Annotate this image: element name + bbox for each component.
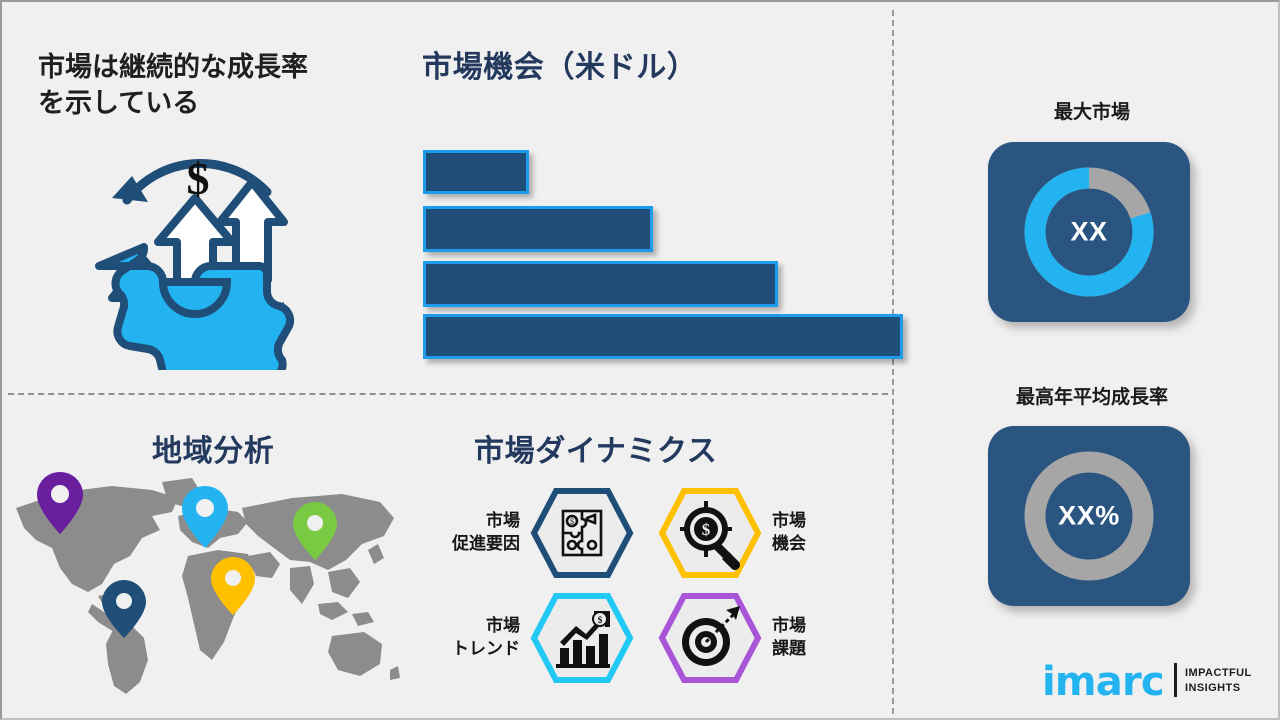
highest-cagr-donut-card: XX% (988, 426, 1190, 606)
target-dart-icon (658, 592, 762, 684)
growth-bar-chart-icon: $ (530, 592, 634, 684)
opportunity-panel-title: 市場機会（米ドル） (422, 50, 872, 86)
dynamics-item-drivers-label: 市場 促進要因 (452, 510, 520, 556)
svg-text:$: $ (598, 615, 603, 625)
bar-row (423, 150, 529, 194)
dynamics-item-trends[interactable]: 市場 トレンド $ (402, 592, 642, 684)
largest-market-value: XX (988, 217, 1190, 248)
imarc-logo-tagline: IMPACTFUL INSIGHTS (1185, 666, 1252, 696)
vertical-divider (892, 10, 894, 714)
market-opportunity-bar-chart (412, 142, 892, 357)
dynamics-item-opportunities-label: 市場 機会 (772, 510, 806, 556)
dynamics-item-trends-label: 市場 トレンド (452, 615, 520, 661)
world-map (2, 464, 402, 696)
dynamics-item-challenges[interactable]: 市場 課題 (650, 592, 890, 684)
dynamics-panel-title: 市場ダイナミクス (474, 426, 717, 470)
highest-cagr-label: 最高年平均成長率 (962, 382, 1222, 409)
dynamics-item-challenges-label: 市場 課題 (772, 615, 806, 661)
growth-cycle-gear-icon: $ (72, 130, 322, 370)
growth-panel-title: 市場は継続的な成長率 を示している (38, 50, 388, 121)
highest-cagr-value: XX% (988, 501, 1190, 532)
bar-row (423, 261, 778, 307)
svg-text:$: $ (570, 517, 574, 526)
logo-separator-bar (1174, 663, 1177, 697)
imarc-logo-wordmark: imarc (1042, 659, 1164, 705)
bar-row (423, 314, 903, 359)
slide-canvas: 市場は継続的な成長率 を示している $ 市場機 (0, 0, 1280, 720)
svg-text:$: $ (187, 153, 210, 204)
largest-market-label: 最大市場 (962, 97, 1222, 124)
dynamics-item-drivers[interactable]: 市場 促進要因 $ (402, 487, 642, 579)
imarc-logo: imarc IMPACTFUL INSIGHTS (1042, 657, 1257, 705)
svg-text:$: $ (702, 520, 711, 539)
horizontal-divider (8, 393, 888, 395)
largest-market-donut-card: XX (988, 142, 1190, 322)
puzzle-pieces-icon: $ (530, 487, 634, 579)
bar-row (423, 206, 653, 252)
dynamics-item-opportunities[interactable]: $ 市場 機会 (650, 487, 890, 579)
dollar-magnifier-icon: $ (658, 487, 762, 579)
